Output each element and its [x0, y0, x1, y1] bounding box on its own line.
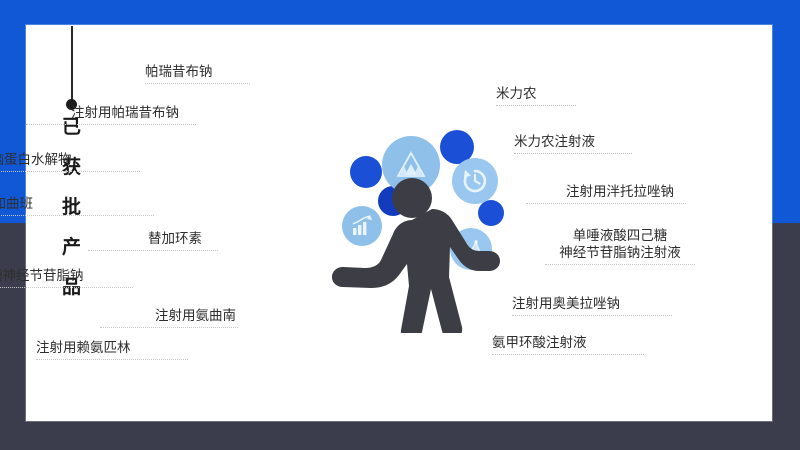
right-label-rule — [512, 315, 672, 316]
left-label-item: 帕瑞昔布钠 — [145, 64, 250, 84]
left-label-text: 帕瑞昔布钠 — [145, 64, 250, 81]
left-label-item: 替加环素 — [148, 231, 218, 251]
right-label-item: 米力农注射液 — [514, 134, 632, 154]
left-label-item: 注射用赖氨匹林 — [36, 340, 188, 360]
left-label-text: 单唾液酸四己糖神经节苷脂钠 — [0, 268, 133, 285]
person-silhouette-raising-arms — [330, 128, 520, 333]
slide-canvas: 已获批产品 帕瑞昔布钠注射用帕瑞昔布钠注射用脑蛋白水解物阿加曲班替加环素单唾液酸… — [0, 0, 800, 450]
left-label-item: 单唾液酸四己糖神经节苷脂钠 — [0, 268, 133, 288]
left-label-item: 注射用脑蛋白水解物 — [0, 152, 140, 172]
left-label-rule — [0, 171, 140, 172]
right-label-text: 米力农注射液 — [514, 134, 632, 151]
right-label-item: 米力农 — [496, 86, 576, 106]
right-label-item: 注射用泮托拉唑钠 — [566, 184, 686, 204]
right-label-rule — [496, 105, 576, 106]
right-label-text: 注射用奥美拉唑钠 — [512, 296, 672, 313]
left-label-item: 注射用帕瑞昔布钠 — [71, 105, 196, 125]
left-label-rule — [0, 287, 133, 288]
left-label-rule — [26, 124, 196, 125]
left-label-rule — [145, 83, 250, 84]
right-label-text: 米力农 — [496, 86, 576, 103]
left-label-text: 注射用氨曲南 — [155, 308, 238, 325]
right-label-rule — [492, 354, 644, 355]
right-label-text-line2: 神经节苷脂钠注射液 — [545, 245, 695, 262]
page-title-vertical: 已获批产品 — [52, 118, 92, 318]
right-label-rule — [545, 264, 695, 265]
left-label-text: 阿加曲班 — [0, 196, 154, 213]
right-label-item: 注射用奥美拉唑钠 — [512, 296, 672, 316]
right-label-text: 单唾液酸四己糖 — [545, 228, 695, 245]
right-label-item: 氨甲环酸注射液 — [492, 335, 644, 355]
right-label-item: 单唾液酸四己糖神经节苷脂钠注射液 — [545, 228, 695, 265]
page-title-char-3: 产 — [62, 238, 82, 257]
left-label-item: 注射用氨曲南 — [155, 308, 238, 328]
left-label-rule — [0, 215, 154, 216]
left-label-text: 注射用脑蛋白水解物 — [0, 152, 140, 169]
left-label-rule — [100, 327, 238, 328]
right-label-rule — [526, 203, 686, 204]
left-label-text: 注射用帕瑞昔布钠 — [71, 105, 196, 122]
left-label-rule — [88, 250, 218, 251]
right-label-text: 氨甲环酸注射液 — [492, 335, 644, 352]
title-connector-line — [71, 26, 73, 104]
right-label-rule — [514, 153, 632, 154]
center-graphic — [330, 128, 520, 333]
left-label-rule — [36, 359, 188, 360]
left-label-text: 注射用赖氨匹林 — [36, 340, 188, 357]
right-label-text: 注射用泮托拉唑钠 — [566, 184, 686, 201]
left-label-item: 阿加曲班 — [0, 196, 154, 216]
left-label-text: 替加环素 — [148, 231, 218, 248]
